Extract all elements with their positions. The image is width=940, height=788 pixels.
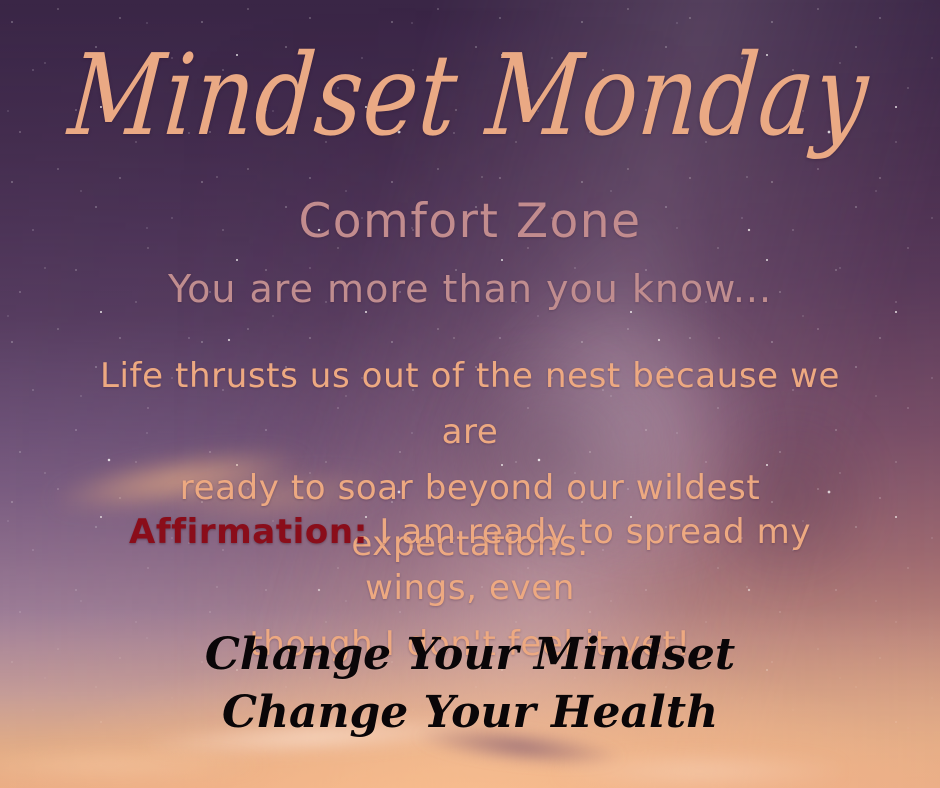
mindset-monday-poster: Mindset Monday Comfort Zone You are more… [0,0,940,788]
affirmation-label: Affirmation: [129,512,368,552]
poster-slogan: Change Your Mindset Change Your Health [0,626,940,742]
poster-tagline: You are more than you know... [0,270,940,308]
poster-subtitle: Comfort Zone [0,198,940,245]
affirmation-text-1: I am ready to spread my wings, even [365,512,811,608]
body-line-1: Life thrusts us out of the nest because … [70,348,870,460]
poster-title: Mindset Monday [0,40,940,152]
slogan-line-1: Change Your Mindset [0,626,940,684]
affirmation-line-1: Affirmation: I am ready to spread my win… [70,504,870,616]
slogan-line-2: Change Your Health [0,684,940,742]
poster-content: Mindset Monday Comfort Zone You are more… [0,0,940,788]
